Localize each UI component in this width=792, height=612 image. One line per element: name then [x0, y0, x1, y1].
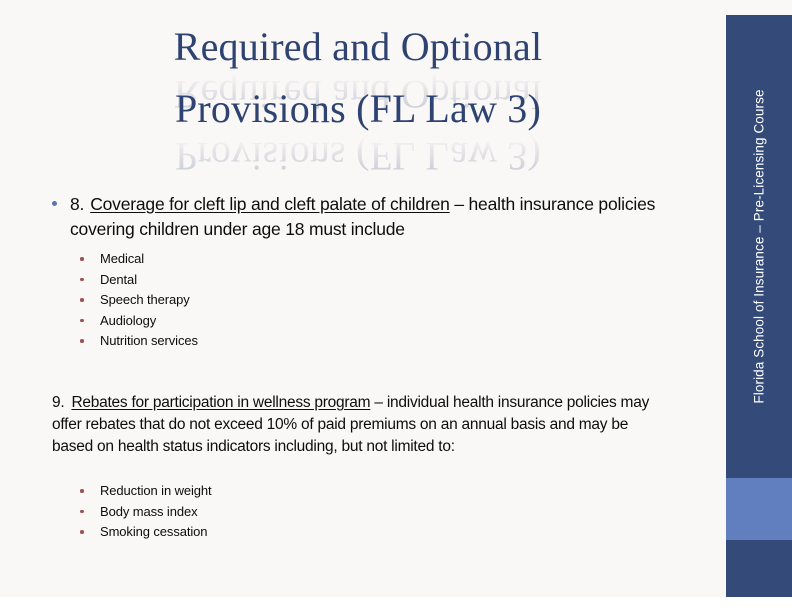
sub-bullet-dot-icon	[80, 489, 84, 493]
body-content: 8.Coverage for cleft lip and cleft palat…	[0, 192, 700, 352]
sub-bullet-dot-icon	[80, 257, 84, 261]
list-item-8-heading: Coverage for cleft lip and cleft palate …	[90, 194, 449, 214]
sublist-8-item-0: Medical	[100, 251, 144, 266]
bullet-dot-icon	[52, 201, 57, 206]
sublist-8-item-1: Dental	[100, 272, 137, 287]
list-item: Nutrition services	[0, 331, 700, 352]
list-item: Medical	[0, 249, 700, 270]
list-item-8-number: 8.	[70, 194, 84, 214]
sublist-9-item-2: Smoking cessation	[100, 524, 207, 539]
sidebar-segment-top	[726, 15, 792, 478]
sidebar-segment-bottom	[726, 540, 792, 597]
sublist-8: Medical Dental Speech therapy Audiology …	[0, 249, 700, 352]
list-item: Smoking cessation	[0, 522, 500, 543]
sublist-9: Reduction in weight Body mass index Smok…	[0, 481, 500, 543]
list-item-9-heading: Rebates for participation in wellness pr…	[71, 394, 370, 411]
sublist-8-item-3: Audiology	[100, 313, 156, 328]
sublist-9-item-0: Reduction in weight	[100, 483, 212, 498]
list-item: Reduction in weight	[0, 481, 500, 502]
page-title: Required and Optional Required and Optio…	[0, 22, 716, 146]
sub-bullet-dot-icon	[80, 278, 84, 282]
list-item-9: 9.Rebates for participation in wellness …	[0, 392, 660, 458]
title-line-2: Provisions (FL Law 3)	[0, 84, 716, 134]
sub-bullet-dot-icon	[80, 319, 84, 323]
list-item-9-text: 9.Rebates for participation in wellness …	[52, 392, 650, 458]
list-item-9-number: 9.	[52, 394, 64, 411]
sublist-9-item-1: Body mass index	[100, 504, 198, 519]
sub-bullet-dot-icon	[80, 298, 84, 302]
title-line-1: Required and Optional	[0, 22, 716, 72]
sidebar-segment-accent	[726, 478, 792, 540]
sublist-8-item-2: Speech therapy	[100, 292, 190, 307]
list-item-8-text: 8.Coverage for cleft lip and cleft palat…	[70, 192, 670, 242]
title-line-2-wrap: Provisions (FL Law 3) Provisions (FL Law…	[0, 84, 716, 146]
list-item: Dental	[0, 270, 700, 291]
slide: Required and Optional Required and Optio…	[0, 0, 792, 612]
sidebar: Florida School of Insurance – Pre-Licens…	[726, 15, 792, 597]
list-item: Audiology	[0, 311, 700, 332]
list-item-8: 8.Coverage for cleft lip and cleft palat…	[0, 192, 700, 242]
sub-bullet-dot-icon	[80, 510, 84, 514]
list-item: Body mass index	[0, 502, 500, 523]
list-item: Speech therapy	[0, 290, 700, 311]
title-line-1-wrap: Required and Optional Required and Optio…	[0, 22, 716, 84]
sublist-8-item-4: Nutrition services	[100, 333, 198, 348]
sub-bullet-dot-icon	[80, 339, 84, 343]
sub-bullet-dot-icon	[80, 530, 84, 534]
